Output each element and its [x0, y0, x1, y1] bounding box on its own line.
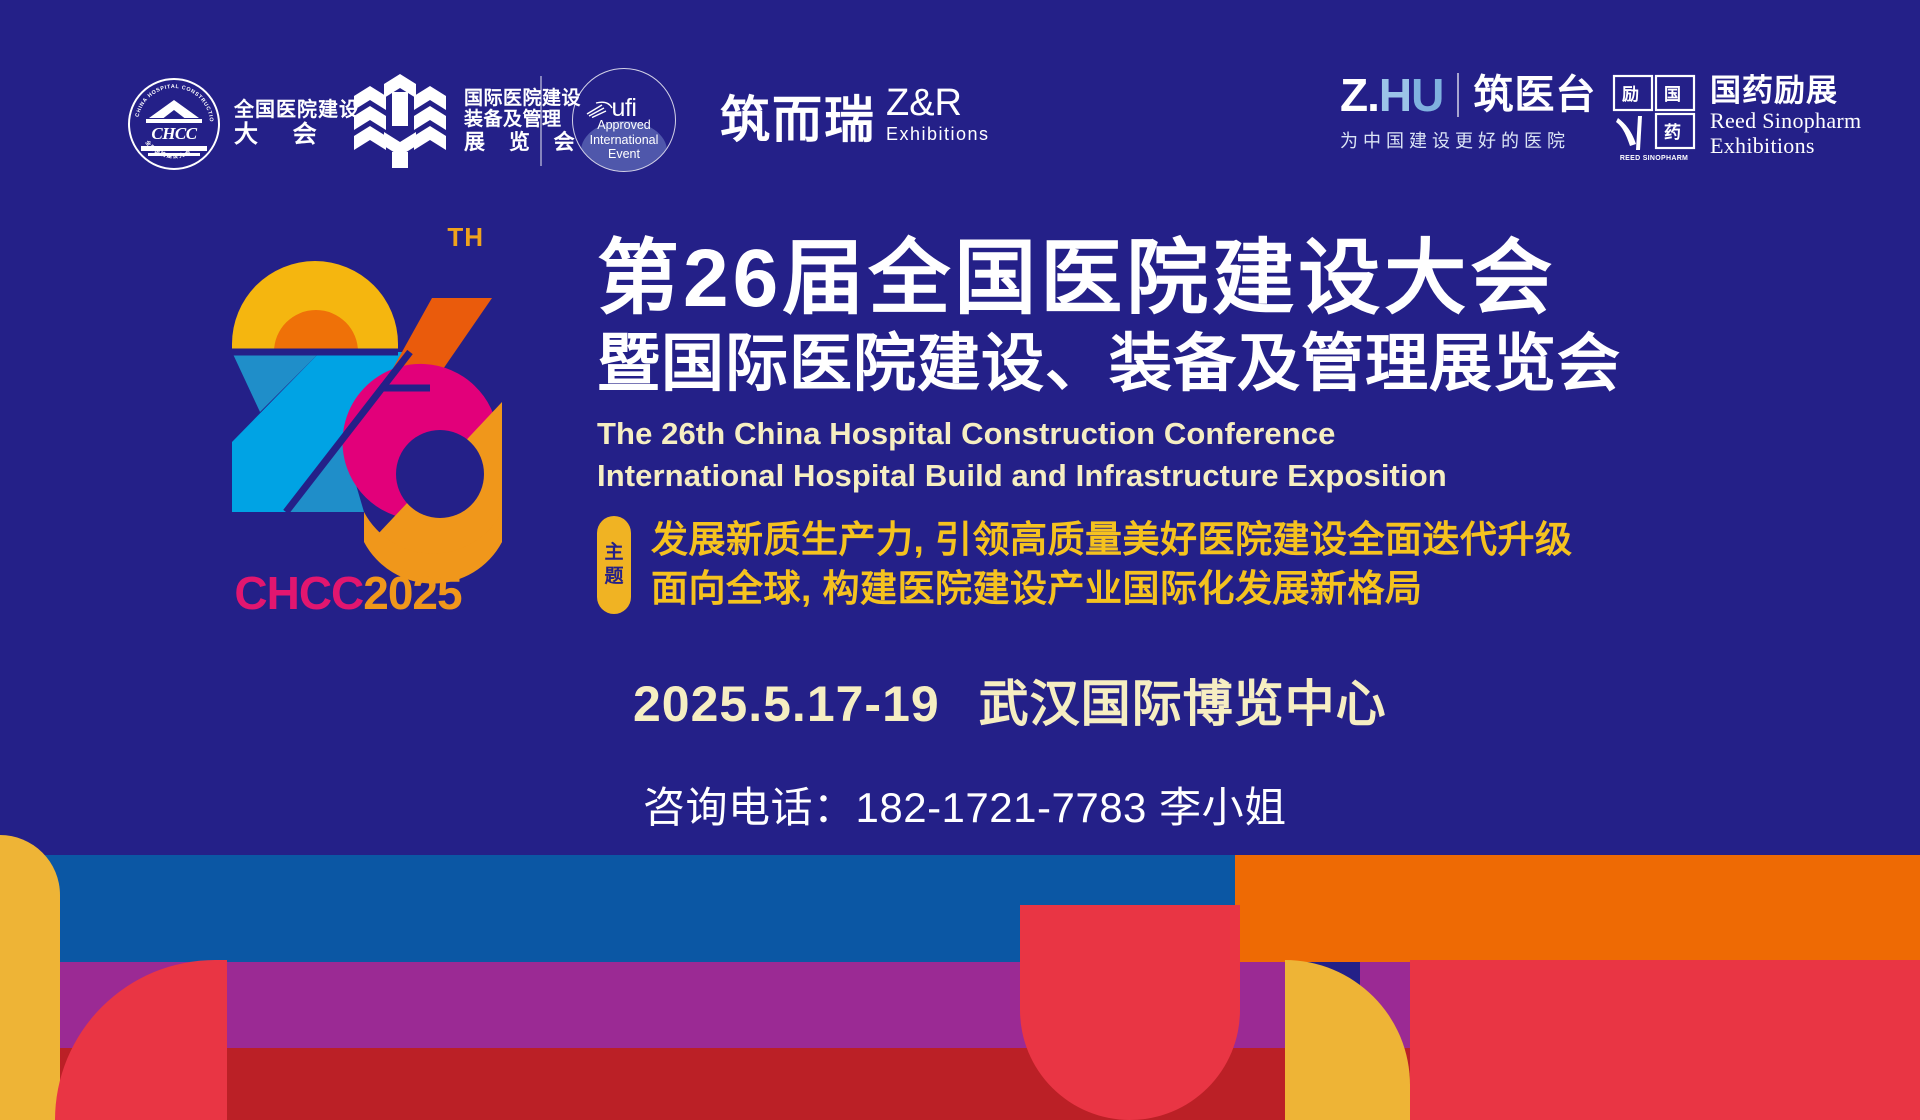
logo-ihb-exhibition: 国际医院建设 装备及管理 展 览 会 — [348, 72, 584, 170]
svg-text:药: 药 — [1664, 122, 1681, 143]
zr-cn-name: 筑而瑞 — [720, 95, 876, 145]
chcc-cn-line1: 全国医院建设 — [234, 99, 360, 121]
reed-seal-icon: 励国药 REED SINOPHARM — [1610, 72, 1698, 160]
theme-line2: 面向全球, 构建医院建设产业国际化发展新格局 — [651, 565, 1573, 614]
chcc-26-emblem: TH — [192, 212, 504, 612]
theme-badge-char2: 题 — [604, 565, 623, 589]
chcc-logo-text: 全国医院建设 大 会 — [234, 99, 360, 148]
theme-section: 主 题 发展新质生产力, 引领高质量美好医院建设全面迭代升级 面向全球, 构建医… — [597, 516, 1807, 614]
emblem-wordmark: CHCC2025 — [192, 566, 504, 620]
emblem-name-year: 2025 — [363, 567, 461, 619]
title-en-line2: International Hospital Build and Infrast… — [597, 455, 1807, 496]
logo-divider — [540, 76, 542, 166]
zhu-slogan: 为中国建设更好的医院 — [1340, 127, 1596, 153]
band-red-right-block — [1410, 960, 1920, 1120]
emblem-name-chcc: CHCC — [234, 567, 363, 619]
ihb-cn-line1: 国际医院建设 — [464, 88, 584, 109]
ufi-subtext: Approved International Event — [572, 118, 676, 162]
chcc-seal-icon: CHINA HOSPITAL CONSTRUCTION CONFERENCE 全… — [128, 78, 220, 170]
theme-badge-char1: 主 — [604, 541, 623, 565]
title-cn-line2: 暨国际医院建设、装备及管理展览会 — [597, 329, 1807, 400]
svg-text:国: 国 — [1664, 85, 1681, 105]
reed-en-line1: Reed Sinopharm — [1710, 109, 1861, 133]
zr-en-name: Z&R Exhibitions — [886, 84, 990, 145]
ihb-cn-line2: 装备及管理 — [464, 109, 584, 130]
title-en-line1: The 26th China Hospital Construction Con… — [597, 413, 1807, 454]
theme-line1: 发展新质生产力, 引领高质量美好医院建设全面迭代升级 — [651, 516, 1573, 565]
emblem-superscript: TH — [447, 222, 484, 253]
poster-canvas: CHINA HOSPITAL CONSTRUCTION CONFERENCE 全… — [0, 0, 1920, 1120]
emblem-graphic — [192, 212, 504, 612]
chcc-monogram: CHCC — [128, 124, 220, 144]
ufi-sub-line1: Approved — [572, 118, 676, 133]
zhu-mark-u: U — [1411, 72, 1443, 118]
event-date: 2025.5.17-19 — [633, 676, 940, 732]
band-red-bowl-shape — [1020, 905, 1240, 1120]
contact-row: 咨询电话：182-1721-7783 李小姐 — [597, 774, 1807, 835]
logo-ufi-approved: ufi Approved International Event — [572, 68, 676, 172]
theme-badge: 主 题 — [597, 516, 631, 614]
reed-logo-text: 国药励展 Reed Sinopharm Exhibitions — [1710, 74, 1861, 157]
event-venue: 武汉国际博览中心 — [979, 676, 1387, 732]
title-cn-line1: 第26届全国医院建设大会 — [597, 236, 1807, 323]
chcc-cn-line2: 大 会 — [234, 122, 360, 149]
zhu-cn-name: 筑医台 — [1473, 75, 1596, 115]
zr-en-big: Z&R — [886, 84, 990, 122]
band-yellow-pill-shape — [0, 835, 60, 1120]
svg-text:励: 励 — [1622, 85, 1639, 105]
band-orange-stripe — [1235, 855, 1920, 965]
ihb-logo-text: 国际医院建设 装备及管理 展 览 会 — [464, 88, 584, 154]
logo-zhuyitai: Z.HU 筑医台 为中国建设更好的医院 — [1340, 72, 1596, 153]
ufi-sub-line3: Event — [572, 147, 676, 162]
ihb-cn-line3: 展 览 会 — [464, 131, 584, 155]
zr-en-small: Exhibitions — [886, 125, 990, 143]
logo-zr-exhibitions: 筑而瑞 Z&R Exhibitions — [720, 84, 990, 145]
reed-seal-label: REED SINOPHARM — [1610, 155, 1698, 162]
zhu-divider — [1457, 73, 1459, 117]
theme-text: 发展新质生产力, 引领高质量美好医院建设全面迭代升级 面向全球, 构建医院建设产… — [651, 516, 1573, 614]
zhu-wordmark: Z.HU — [1340, 72, 1443, 118]
hexagon-stack-icon — [348, 72, 452, 170]
ufi-sub-line2: International — [572, 133, 676, 148]
reed-en-line2: Exhibitions — [1710, 134, 1861, 158]
logo-chcc-conference: CHINA HOSPITAL CONSTRUCTION CONFERENCE 全… — [128, 78, 360, 170]
reed-cn-name: 国药励展 — [1710, 74, 1861, 108]
date-venue-row: 2025.5.17-19 武汉国际博览中心 — [597, 664, 1807, 736]
top-logo-strip: CHINA HOSPITAL CONSTRUCTION CONFERENCE 全… — [0, 0, 1920, 180]
zhu-mark-z: Z. — [1340, 72, 1379, 118]
zhu-mark-h: H — [1379, 72, 1411, 118]
main-text-block: 第26届全国医院建设大会 暨国际医院建设、装备及管理展览会 The 26th C… — [597, 236, 1807, 835]
logo-reed-sinopharm: 励国药 REED SINOPHARM 国药励展 Reed Sinopharm E… — [1610, 72, 1861, 160]
